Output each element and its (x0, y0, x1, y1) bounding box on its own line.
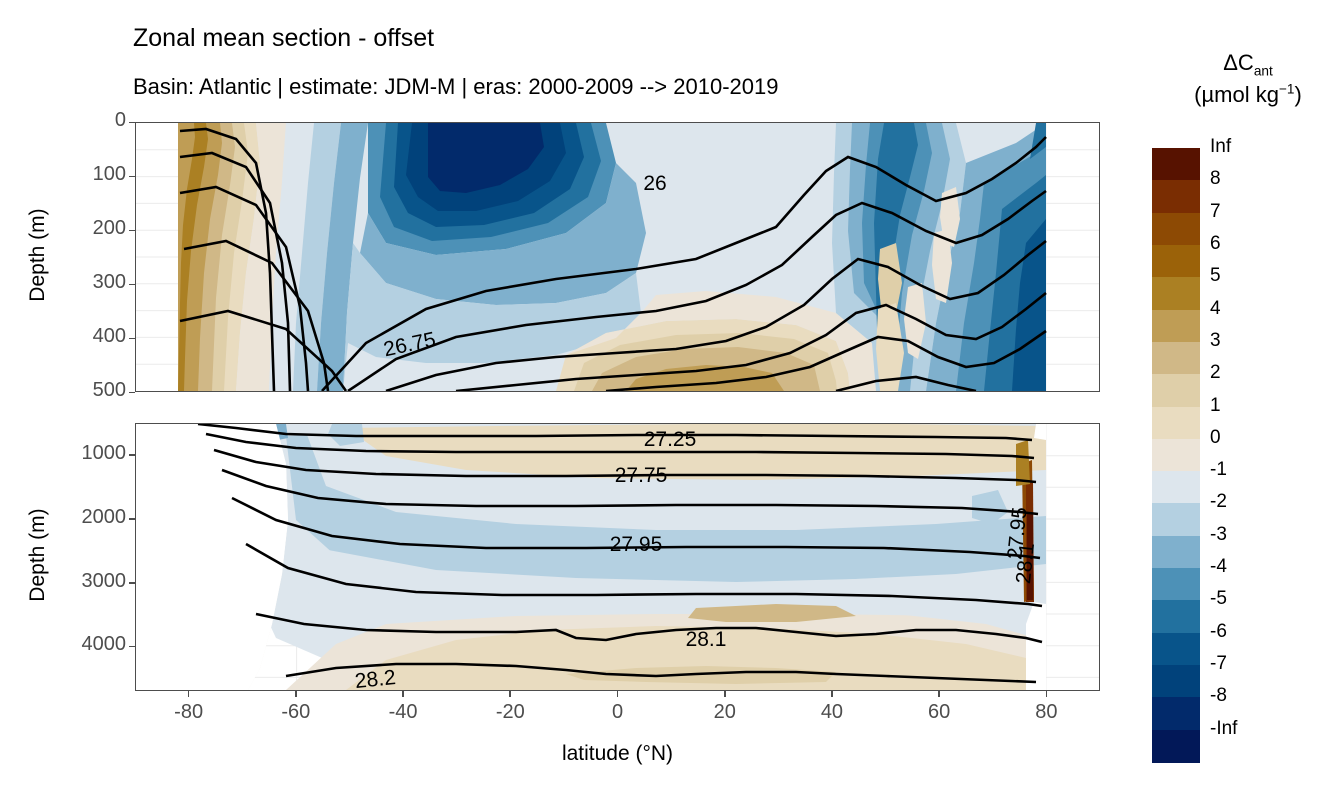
x-tick-label--20: -20 (470, 701, 550, 724)
x-tickmark--20 (509, 691, 511, 697)
legend-key--8[interactable] (1152, 697, 1200, 730)
upper-y-tickmark-300 (129, 284, 135, 286)
legend-key--3[interactable] (1152, 536, 1200, 569)
x-axis-title: latitude (°N) (0, 742, 1235, 766)
legend-key-8[interactable] (1152, 180, 1200, 213)
legend-label--2: -2 (1210, 491, 1227, 513)
legend-label--1: -1 (1210, 459, 1227, 481)
upper-y-tick-label-500: 500 (40, 379, 126, 402)
legend-key--6[interactable] (1152, 633, 1200, 666)
contour-label-2795: 27.95 (610, 533, 663, 556)
page-subtitle: Basin: Atlantic | estimate: JDM-M | eras… (133, 74, 778, 100)
x-tick-label--40: -40 (363, 701, 443, 724)
legend-label--Inf: -Inf (1210, 718, 1237, 740)
legend-label-6: 6 (1210, 233, 1221, 255)
legend-label-5: 5 (1210, 265, 1221, 287)
x-tick-label-60: 60 (899, 701, 979, 724)
legend-label--6: -6 (1210, 621, 1227, 643)
legend-units-open: (µmol kg (1194, 82, 1279, 107)
x-tick-label-40: 40 (792, 701, 872, 724)
lower-y-tickmark-4000 (129, 646, 135, 648)
legend-label-1: 1 (1210, 395, 1221, 417)
legend-key-0[interactable] (1152, 439, 1200, 472)
legend-key-Inf[interactable] (1152, 148, 1200, 181)
x-tick-label--80: -80 (149, 701, 229, 724)
x-tickmark-20 (724, 691, 726, 697)
x-tick-label--60: -60 (256, 701, 336, 724)
upper-y-tick-label-100: 100 (40, 163, 126, 186)
x-tickmark-40 (831, 691, 833, 697)
legend-title-subscript: ant (1254, 63, 1273, 78)
lower-y-tickmark-3000 (129, 582, 135, 584)
legend-key--1[interactable] (1152, 471, 1200, 504)
lower-y-axis-title: Depth (m) (26, 455, 50, 655)
x-tick-label-0: 0 (578, 701, 658, 724)
x-tick-label-20: 20 (685, 701, 765, 724)
legend-key-2[interactable] (1152, 374, 1200, 407)
contour-label-east-2: 28.1 (1012, 542, 1039, 585)
legend-colorbar[interactable] (1152, 148, 1200, 762)
legend-label-3: 3 (1210, 330, 1221, 352)
legend-label--7: -7 (1210, 653, 1227, 675)
upper-y-tickmark-500 (129, 392, 135, 394)
upper-y-tick-label-300: 300 (40, 271, 126, 294)
x-tickmark-80 (1046, 691, 1048, 697)
legend-key-5[interactable] (1152, 277, 1200, 310)
legend-label--5: -5 (1210, 588, 1227, 610)
upper-y-tickmark-200 (129, 230, 135, 232)
legend-label-8: 8 (1210, 168, 1221, 190)
upper-y-tickmark-0 (129, 122, 135, 124)
x-tickmark--40 (402, 691, 404, 697)
upper-y-tick-label-400: 400 (40, 325, 126, 348)
lower-section-plot: 27.25 27.75 27.95 28.1 28.2 27.95 28.1 (136, 424, 1099, 690)
upper-y-tick-label-0: 0 (40, 109, 126, 132)
x-tick-label-80: 80 (1006, 701, 1086, 724)
legend-key--4[interactable] (1152, 568, 1200, 601)
legend-label--3: -3 (1210, 524, 1227, 546)
legend-title: ΔCant (µmol kg−1) (1152, 48, 1344, 109)
legend-units-exponent: −1 (1279, 82, 1295, 97)
lower-depth-panel: 27.25 27.75 27.95 28.1 28.2 27.95 28.1 (135, 423, 1100, 691)
legend-label-4: 4 (1210, 298, 1221, 320)
x-tickmark-60 (938, 691, 940, 697)
legend-label-0: 0 (1210, 427, 1221, 449)
legend-label--8: -8 (1210, 685, 1227, 707)
contour-label-2725: 27.25 (644, 428, 697, 451)
upper-y-tickmark-100 (129, 176, 135, 178)
upper-depth-panel: 26 26.75 (135, 122, 1100, 392)
legend-title-delta-cant: ΔC (1223, 50, 1254, 75)
figure-root: Zonal mean section - offset Basin: Atlan… (0, 0, 1344, 806)
contour-label-26: 26 (643, 172, 666, 195)
contour-label-282: 28.2 (354, 666, 397, 690)
lower-y-tickmark-2000 (129, 518, 135, 520)
x-tickmark--80 (188, 691, 190, 697)
legend-units-close: ) (1295, 82, 1302, 107)
legend-key--5[interactable] (1152, 600, 1200, 633)
upper-y-axis-title: Depth (m) (26, 155, 50, 355)
legend-label-Inf: Inf (1210, 136, 1231, 158)
x-tickmark-0 (617, 691, 619, 697)
contour-label-281: 28.1 (686, 628, 727, 651)
legend-key-7[interactable] (1152, 213, 1200, 246)
legend-label-7: 7 (1210, 201, 1221, 223)
legend-label-2: 2 (1210, 362, 1221, 384)
legend-key-4[interactable] (1152, 310, 1200, 343)
x-tickmark--60 (295, 691, 297, 697)
legend-key--Inf[interactable] (1152, 730, 1200, 763)
legend-key-6[interactable] (1152, 245, 1200, 278)
upper-section-plot: 26 26.75 (136, 123, 1099, 391)
legend-label--4: -4 (1210, 556, 1227, 578)
lower-y-tickmark-1000 (129, 454, 135, 456)
legend-key-3[interactable] (1152, 342, 1200, 375)
legend-key--7[interactable] (1152, 665, 1200, 698)
legend-key-1[interactable] (1152, 407, 1200, 440)
legend-key--2[interactable] (1152, 503, 1200, 536)
upper-y-tick-label-200: 200 (40, 217, 126, 240)
contour-label-2775: 27.75 (615, 464, 668, 487)
page-title: Zonal mean section - offset (133, 24, 434, 53)
upper-y-tickmark-400 (129, 338, 135, 340)
